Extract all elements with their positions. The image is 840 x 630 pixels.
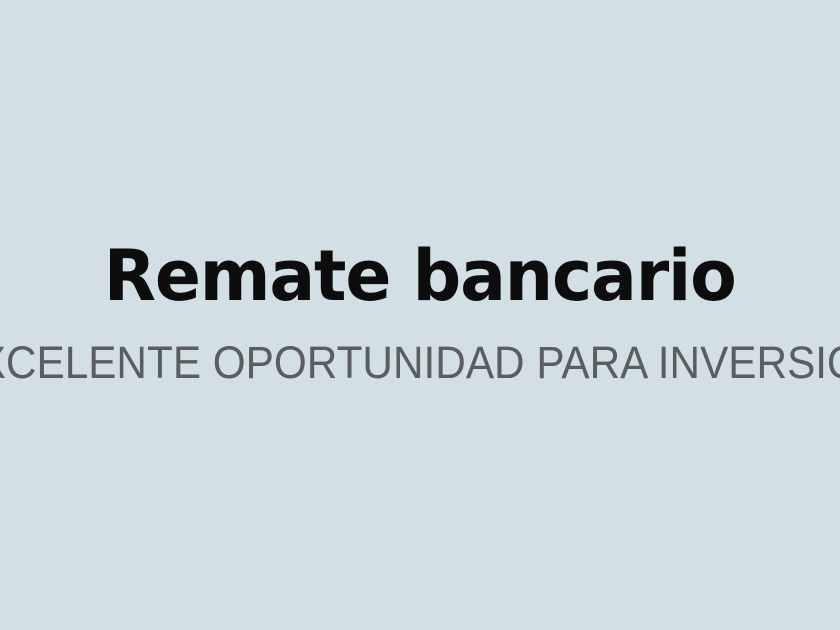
page-title: Remate bancario (104, 241, 736, 311)
promo-banner: Remate bancario EXCELENTE OPORTUNIDAD PA… (0, 0, 840, 630)
subtitle-clip-region: EXCELENTE OPORTUNIDAD PARA INVERSIÓN (0, 337, 840, 389)
page-subtitle: EXCELENTE OPORTUNIDAD PARA INVERSIÓN (0, 337, 840, 389)
banner-text-stack: Remate bancario EXCELENTE OPORTUNIDAD PA… (0, 0, 840, 630)
